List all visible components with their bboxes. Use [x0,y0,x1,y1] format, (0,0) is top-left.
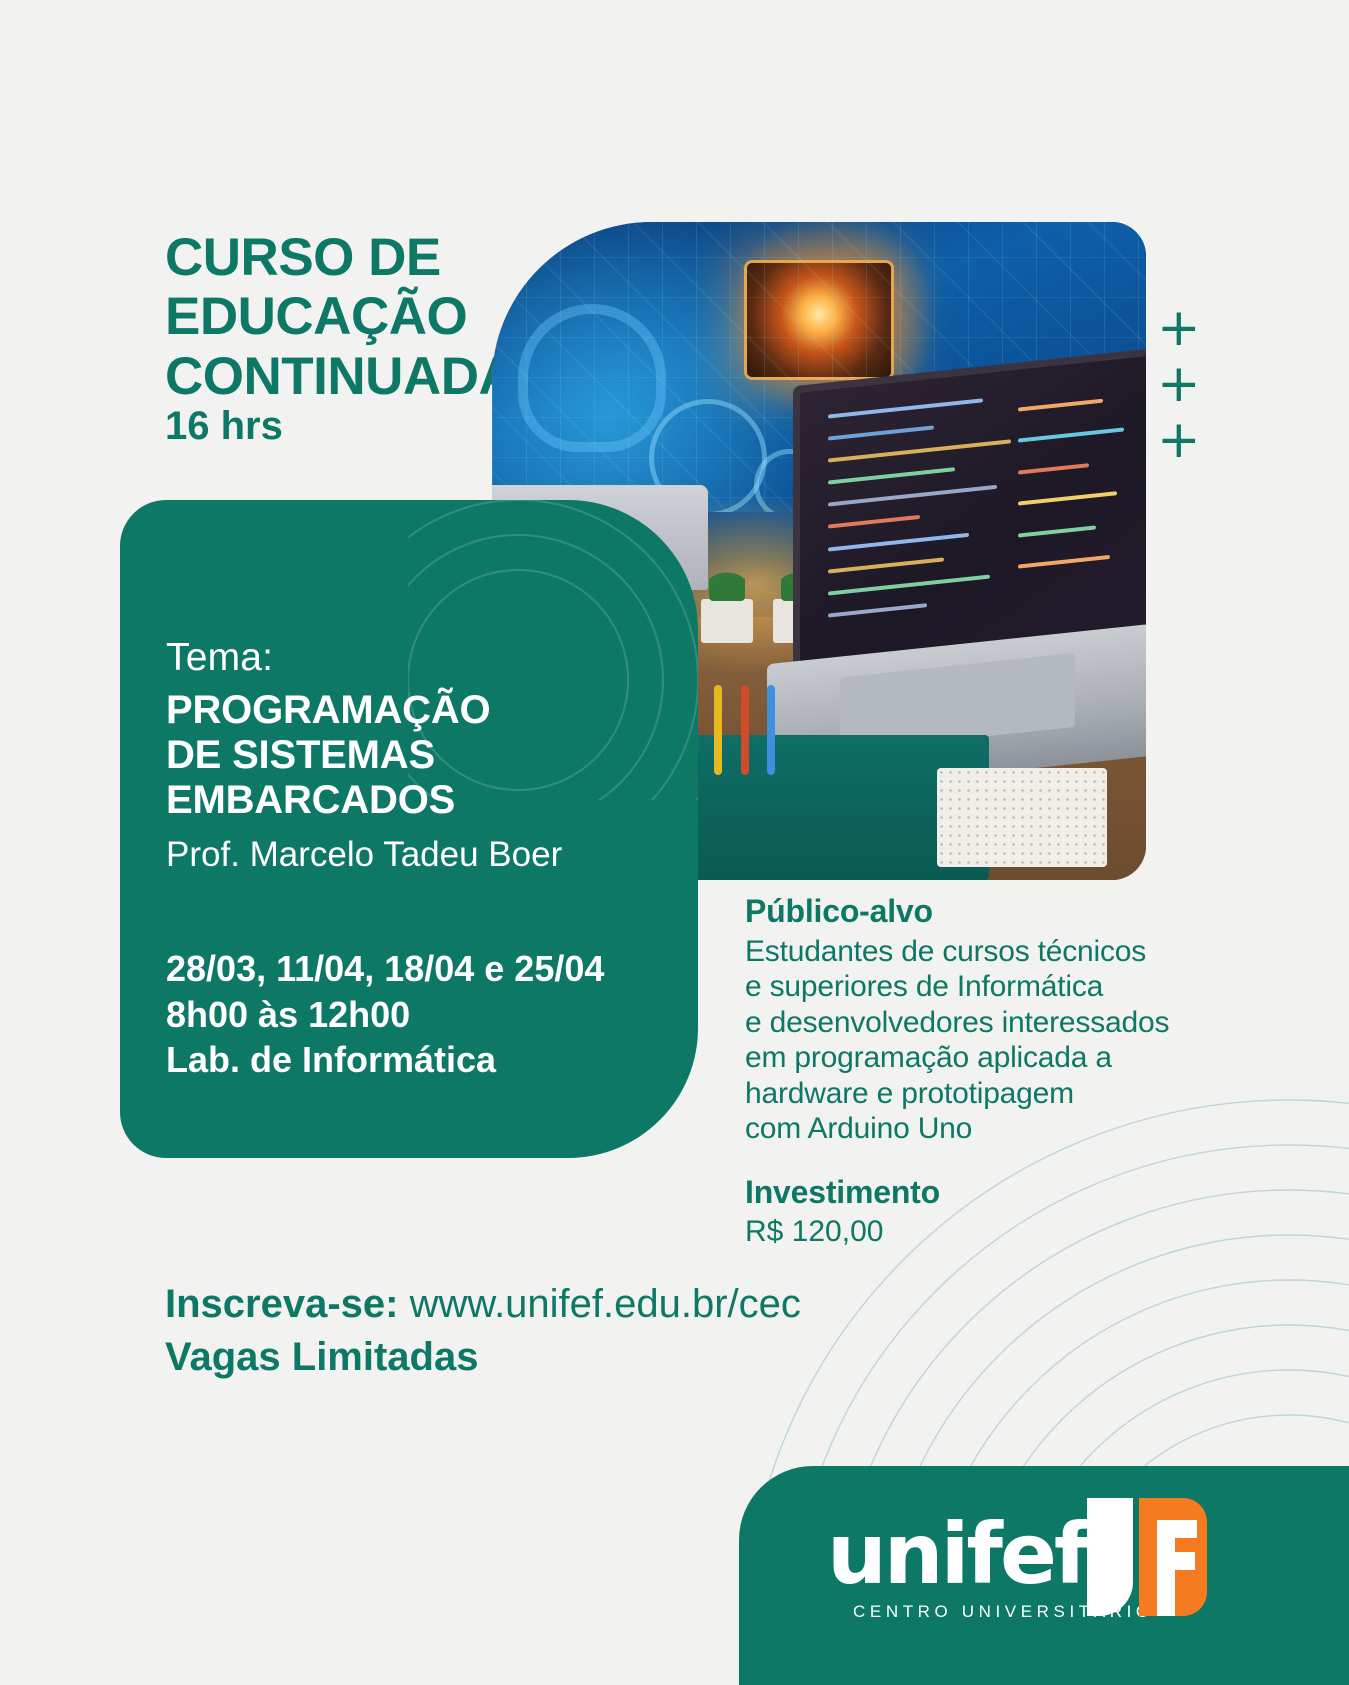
chip-icon [744,260,894,380]
signup-label: Inscreva-se: [165,1282,398,1326]
details-column: Público-alvo Estudantes de cursos técnic… [745,893,1225,1249]
course-hours: 16 hrs [165,404,283,449]
audience-heading: Público-alvo [745,893,1225,930]
course-theme-title: PROGRAMAÇÃO DE SISTEMAS EMBARCADOS [166,688,490,824]
limited-seats-note: Vagas Limitadas [165,1331,801,1384]
page-title: CURSO DE EDUCAÇÃO CONTINUADA [165,228,516,406]
signup-url[interactable]: www.unifef.edu.br/cec [410,1282,801,1326]
tema-label: Tema: [166,636,273,680]
schedule-info: 28/03, 11/04, 18/04 e 25/04 8h00 às 12h0… [166,946,604,1083]
price-heading: Investimento [745,1174,1225,1211]
footer-logo-block: unifef CENTRO UNIVERSITÁRIO [739,1466,1349,1685]
audience-body: Estudantes de cursos técnicos e superior… [745,934,1225,1146]
headset-shape [518,304,666,452]
unifef-symbol-icon [1077,1494,1217,1620]
plant-pot [701,599,753,643]
signup-line: Inscreva-se: www.unifef.edu.br/cec [165,1278,801,1331]
breadboard [937,768,1107,867]
plus-marks-decoration: + + + [1157,300,1201,468]
price-value: R$ 120,00 [745,1215,1225,1249]
plus-icon: + [1157,356,1201,412]
plus-icon: + [1157,412,1201,468]
spacer [745,1146,1225,1174]
professor-name: Prof. Marcelo Tadeu Boer [166,835,562,875]
poster-canvas: CURSO DE EDUCAÇÃO CONTINUADA 16 hrs + + … [0,0,1349,1685]
course-info-card: Tema: PROGRAMAÇÃO DE SISTEMAS EMBARCADOS… [120,500,698,1158]
signup-cta: Inscreva-se: www.unifef.edu.br/cec Vagas… [165,1278,801,1384]
plus-icon: + [1157,300,1201,356]
